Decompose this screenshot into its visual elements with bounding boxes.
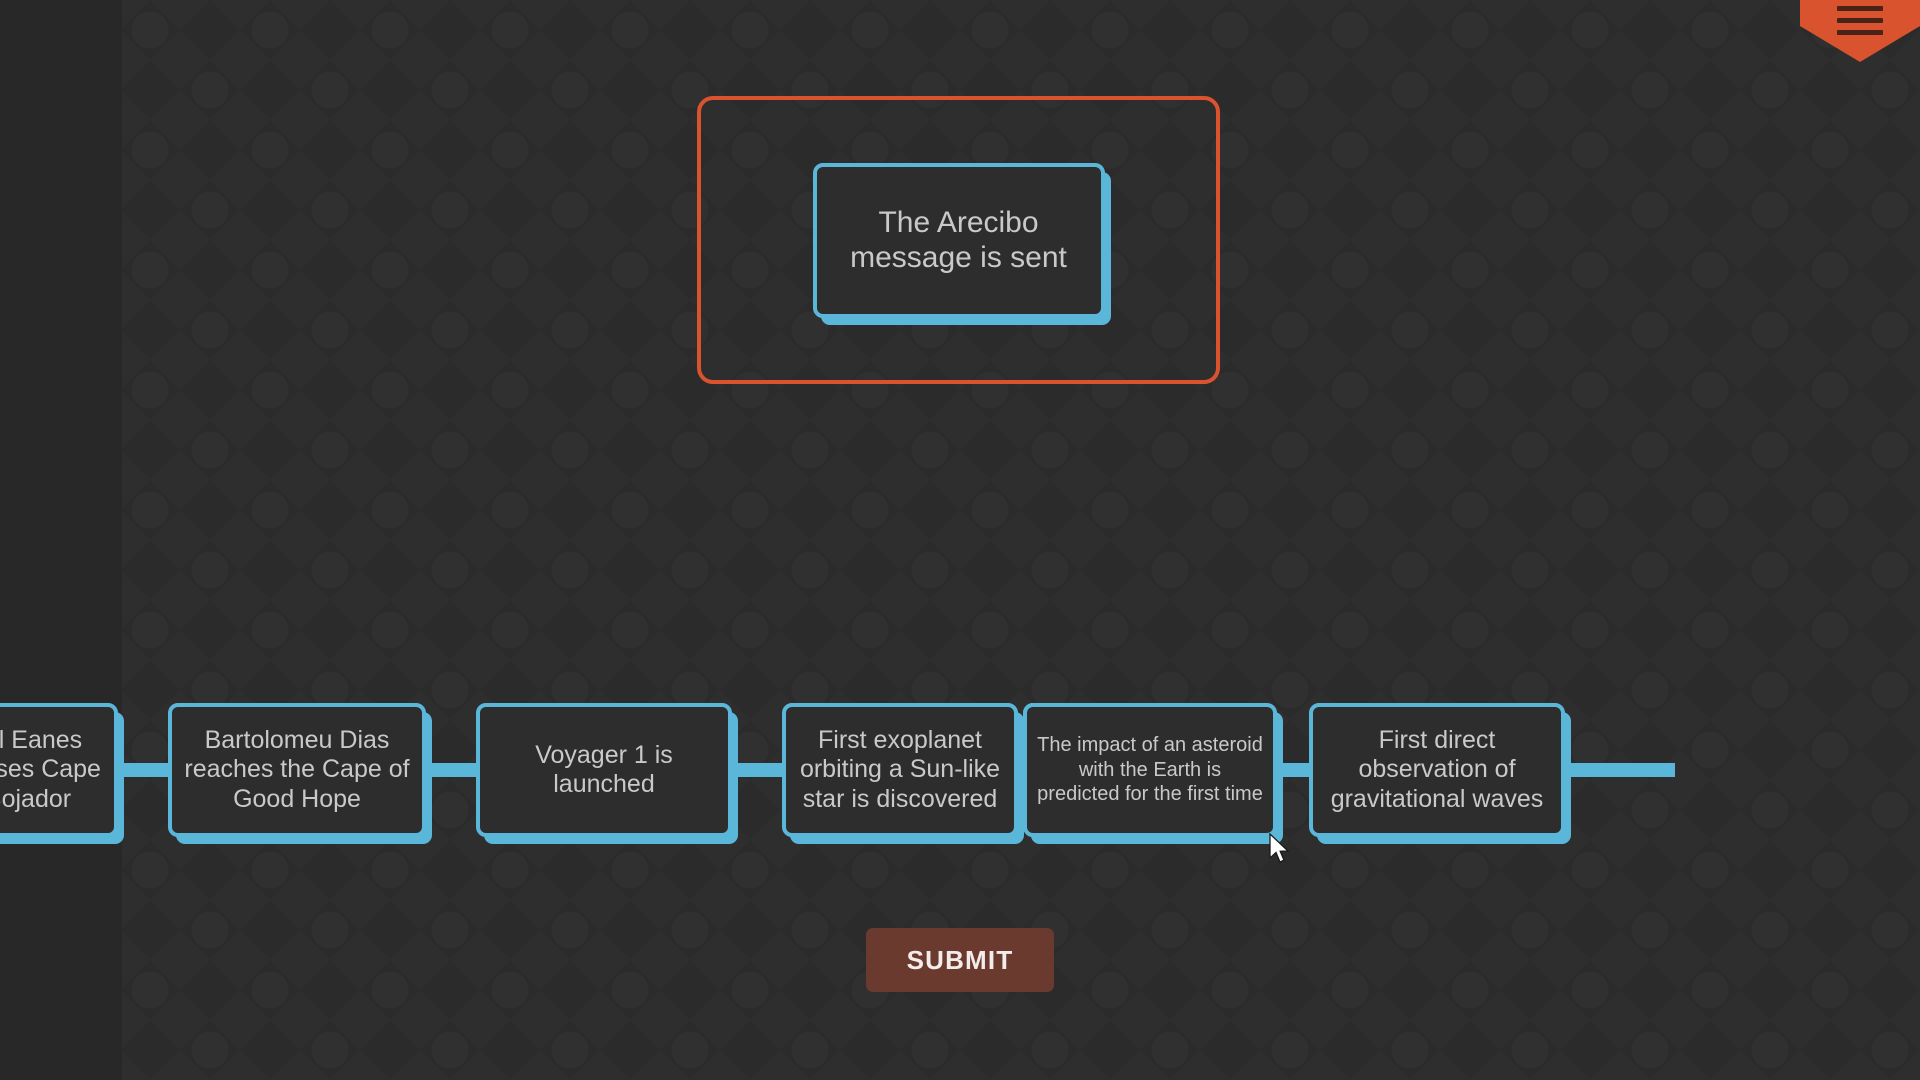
submit-button[interactable]: SUBMIT	[866, 928, 1054, 992]
timeline-card-5[interactable]: First direct observation of gravitationa…	[1309, 703, 1565, 837]
timeline-connector-0	[118, 763, 168, 777]
menu-bar-3	[1837, 30, 1883, 35]
drop-zone[interactable]: The Arecibo message is sent	[697, 96, 1220, 384]
hamburger-menu-icon[interactable]	[1800, 0, 1920, 62]
timeline-card-0[interactable]: Gil Eanes passes Cape Bojador	[0, 703, 118, 837]
timeline-card-2[interactable]: Voyager 1 is launched	[476, 703, 732, 837]
timeline-connector-5	[1565, 763, 1675, 777]
timeline-card-3[interactable]: First exoplanet orbiting a Sun-like star…	[782, 703, 1018, 837]
timeline-connector-2	[732, 763, 782, 777]
menu-bars	[1837, 6, 1883, 35]
dragging-event-card[interactable]: The impact of an asteroid with the Earth…	[1023, 703, 1277, 837]
timeline-card-1[interactable]: Bartolomeu Dias reaches the Cape of Good…	[168, 703, 426, 837]
menu-bar-2	[1837, 18, 1883, 23]
active-event-card[interactable]: The Arecibo message is sent	[813, 163, 1105, 318]
timeline-connector-1	[426, 763, 476, 777]
background-left-panel	[0, 0, 122, 1080]
timeline-track: Gil Eanes passes Cape Bojador Bartolomeu…	[0, 700, 1920, 840]
menu-bar-1	[1837, 6, 1883, 11]
